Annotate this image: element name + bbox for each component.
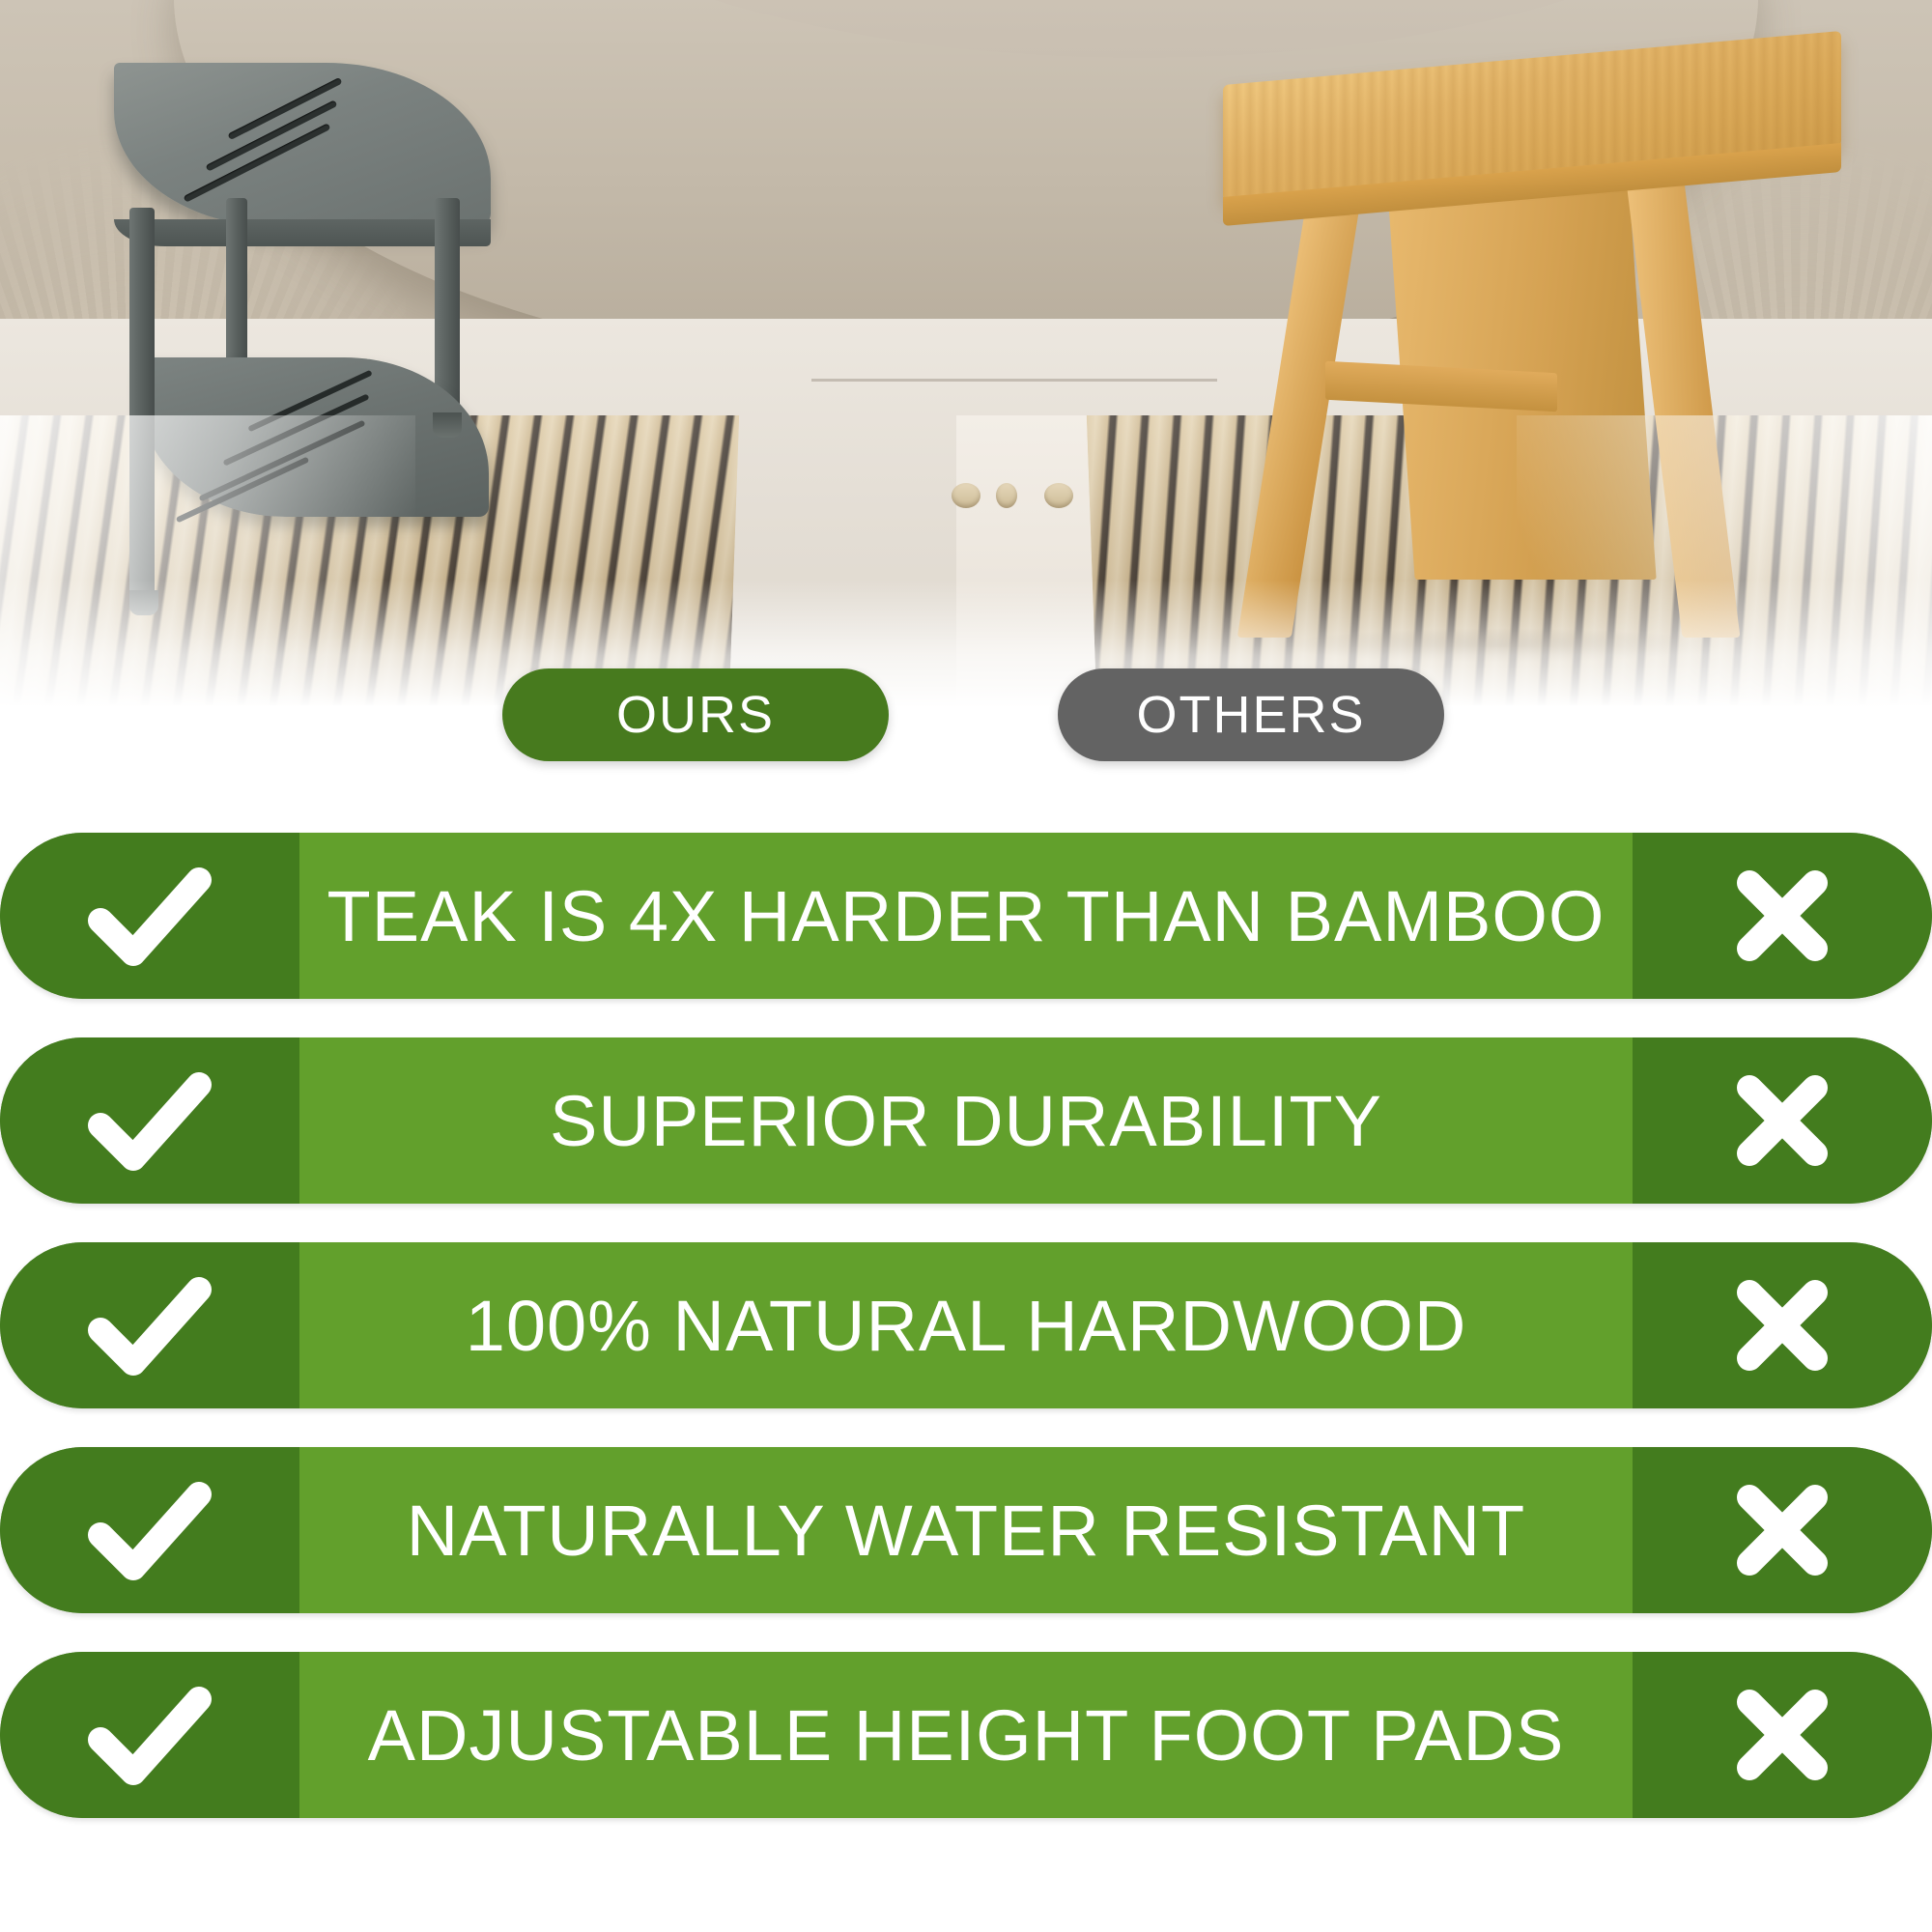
comparison-row: ADJUSTABLE HEIGHT FOOT PADS	[0, 1652, 1932, 1818]
ours-cell	[0, 833, 299, 999]
others-cell	[1633, 1242, 1932, 1408]
ours-cell	[0, 1447, 299, 1613]
check-icon	[87, 1682, 213, 1788]
stool-seat-top	[1223, 31, 1841, 201]
badge-others[interactable]: OTHERS	[1058, 668, 1444, 761]
others-cell	[1633, 1447, 1932, 1613]
stool-leg-left	[1237, 184, 1363, 638]
comparison-row: SUPERIOR DURABILITY	[0, 1037, 1932, 1204]
comparison-infographic: OURS OTHERS TEAK IS 4X HARDER THAN BAMBO…	[0, 0, 1932, 1932]
comparison-row: TEAK IS 4X HARDER THAN BAMBOO	[0, 833, 1932, 999]
check-icon	[87, 1272, 213, 1378]
feature-label: NATURALLY WATER RESISTANT	[299, 1447, 1633, 1613]
cross-icon	[1732, 1070, 1833, 1171]
ours-cell	[0, 1652, 299, 1818]
check-icon	[87, 1067, 213, 1174]
comparison-rows-list: TEAK IS 4X HARDER THAN BAMBOO SUPERIOR D…	[0, 833, 1932, 1857]
badge-ours[interactable]: OURS	[502, 668, 889, 761]
cross-icon	[1732, 1685, 1833, 1785]
others-cell	[1633, 1037, 1932, 1204]
check-icon	[87, 863, 213, 969]
cross-icon	[1732, 866, 1833, 966]
ours-cell	[0, 1242, 299, 1408]
check-icon	[87, 1477, 213, 1583]
feature-label: SUPERIOR DURABILITY	[299, 1037, 1633, 1204]
mat-rope-knot	[952, 483, 1096, 508]
feature-label: TEAK IS 4X HARDER THAN BAMBOO	[299, 833, 1633, 999]
bench-foot-pad-right	[433, 412, 462, 438]
comparison-row: 100% NATURAL HARDWOOD	[0, 1242, 1932, 1408]
bench-leg-mid	[226, 198, 247, 362]
badge-others-label: OTHERS	[1136, 685, 1365, 745]
cross-icon	[1732, 1275, 1833, 1376]
feature-label: ADJUSTABLE HEIGHT FOOT PADS	[299, 1652, 1633, 1818]
badge-ours-label: OURS	[616, 685, 775, 745]
hero-product-photo	[0, 0, 1932, 744]
cross-icon	[1732, 1480, 1833, 1580]
others-cell	[1633, 1652, 1932, 1818]
ours-cell	[0, 1037, 299, 1204]
others-cell	[1633, 833, 1932, 999]
floor-tile-seam	[811, 379, 1217, 382]
comparison-badges: OURS OTHERS	[0, 668, 1932, 765]
feature-label: 100% NATURAL HARDWOOD	[299, 1242, 1633, 1408]
comparison-row: NATURALLY WATER RESISTANT	[0, 1447, 1932, 1613]
